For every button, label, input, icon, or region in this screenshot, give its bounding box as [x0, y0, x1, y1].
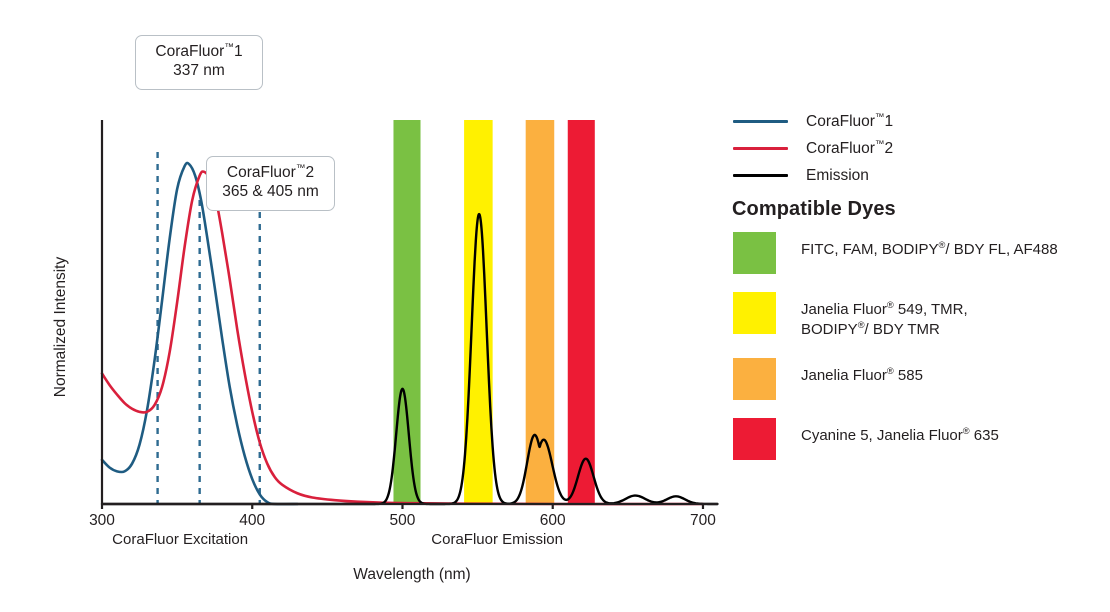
callout-corafluor1: CoraFluor™1 337 nm	[135, 35, 263, 90]
dye-swatch-icon-1	[733, 292, 776, 334]
dye-band-0	[393, 120, 420, 504]
line-legend: CoraFluor™1CoraFluor™2Emission	[730, 108, 1110, 189]
compatible-dyes-list: FITC, FAM, BODIPY®/ BDY FL, AF488Janelia…	[730, 232, 1110, 478]
y-axis-title: Normalized Intensity	[52, 237, 70, 417]
dye-label-2: Janelia Fluor® 585	[801, 358, 923, 386]
x-tick-label-400: 400	[239, 512, 265, 530]
plot-area: CoraFluor™1 337 nm CoraFluor™2 365 & 405…	[0, 0, 730, 612]
x-tick-label-600: 600	[540, 512, 566, 530]
dye-label-3: Cyanine 5, Janelia Fluor® 635	[801, 418, 999, 446]
callout-corafluor1-line2: 337 nm	[149, 62, 249, 81]
dye-swatch-icon-3	[733, 418, 776, 460]
dye-row-1: Janelia Fluor® 549, TMR,BODIPY®/ BDY TMR	[730, 292, 1110, 340]
dye-band-3	[568, 120, 595, 504]
region-label-excitation: CoraFluor Excitation	[112, 531, 248, 548]
dye-swatch-icon-0	[733, 232, 776, 274]
line-swatch-icon-0	[733, 120, 788, 123]
line-legend-label-0: CoraFluor™1	[806, 113, 893, 131]
line-legend-label-1: CoraFluor™2	[806, 140, 893, 158]
compatible-dyes-heading: Compatible Dyes	[732, 198, 896, 221]
callout-corafluor2: CoraFluor™2 365 & 405 nm	[206, 156, 335, 211]
line-legend-row-0: CoraFluor™1	[730, 108, 1110, 135]
x-tick-label-300: 300	[89, 512, 115, 530]
line-legend-row-2: Emission	[730, 162, 1110, 189]
callout-corafluor1-line1: CoraFluor™1	[149, 43, 249, 62]
region-label-emission: CoraFluor Emission	[431, 531, 563, 548]
dye-row-0: FITC, FAM, BODIPY®/ BDY FL, AF488	[730, 232, 1110, 274]
callout-corafluor2-line2: 365 & 405 nm	[220, 183, 321, 202]
spectra-figure: CoraFluor™1 337 nm CoraFluor™2 365 & 405…	[0, 0, 1110, 612]
dye-label-0: FITC, FAM, BODIPY®/ BDY FL, AF488	[801, 232, 1058, 260]
x-tick-label-700: 700	[690, 512, 716, 530]
line-swatch-icon-1	[733, 147, 788, 150]
x-tick-label-500: 500	[390, 512, 416, 530]
dye-swatch-icon-2	[733, 358, 776, 400]
dye-row-3: Cyanine 5, Janelia Fluor® 635	[730, 418, 1110, 460]
x-axis-title: Wavelength (nm)	[353, 566, 470, 584]
line-legend-label-2: Emission	[806, 167, 869, 185]
dye-band-1	[464, 120, 493, 504]
line-swatch-icon-2	[733, 174, 788, 177]
legend-panel: CoraFluor™1CoraFluor™2Emission Compatibl…	[730, 0, 1110, 612]
callout-corafluor2-line1: CoraFluor™2	[220, 164, 321, 183]
dye-row-2: Janelia Fluor® 585	[730, 358, 1110, 400]
line-legend-row-1: CoraFluor™2	[730, 135, 1110, 162]
dye-label-1: Janelia Fluor® 549, TMR,BODIPY®/ BDY TMR	[801, 292, 968, 340]
